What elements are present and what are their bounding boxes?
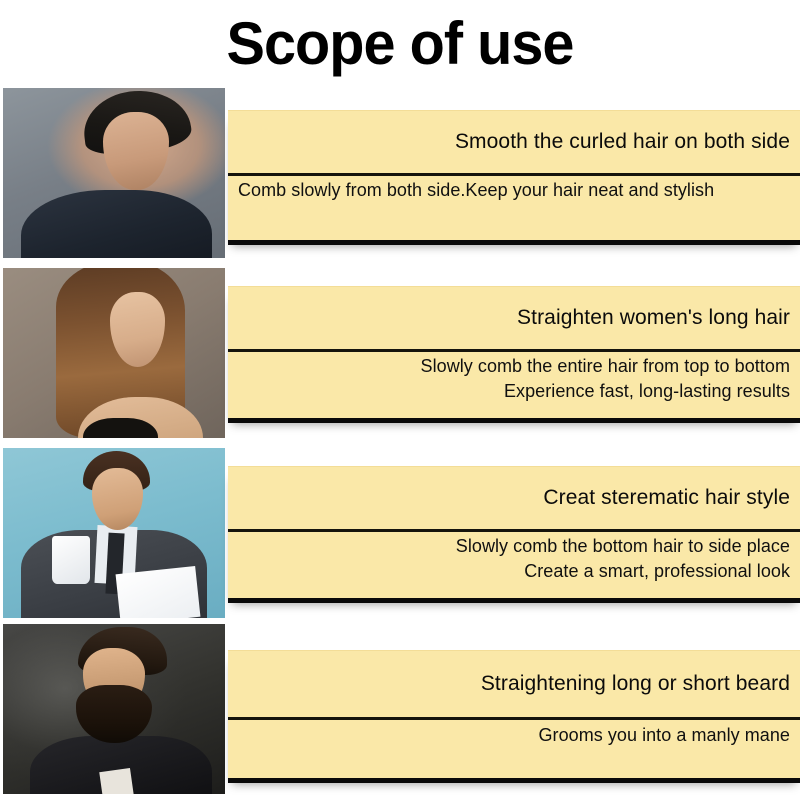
caption-body-line: Grooms you into a manly mane bbox=[228, 723, 790, 748]
caption-heading-2: Straighten women's long hair bbox=[228, 287, 790, 349]
scope-row-4: Straightening long or short beard Grooms… bbox=[0, 624, 800, 796]
scope-row-2: Straighten women's long hair Slowly comb… bbox=[0, 268, 800, 440]
caption-divider-4 bbox=[228, 717, 800, 720]
photo-businessman-mug bbox=[3, 448, 225, 618]
photo-man-wavy-hair bbox=[3, 88, 225, 258]
caption-body-1: Comb slowly from both side.Keep your hai… bbox=[228, 178, 790, 203]
caption-heading-3: Creat sterematic hair style bbox=[228, 467, 790, 529]
caption-body-line: Comb slowly from both side.Keep your hai… bbox=[238, 178, 790, 203]
photo-background bbox=[3, 88, 225, 258]
photo-bearded-man bbox=[3, 624, 225, 794]
caption-panel-1: Smooth the curled hair on both side Comb… bbox=[228, 110, 800, 240]
caption-divider-2 bbox=[228, 349, 800, 352]
caption-panel-2: Straighten women's long hair Slowly comb… bbox=[228, 286, 800, 418]
photo-face-shape bbox=[92, 468, 143, 529]
caption-heading-1: Smooth the curled hair on both side bbox=[228, 111, 790, 173]
photo-background bbox=[3, 448, 225, 618]
caption-body-line: Slowly comb the bottom hair to side plac… bbox=[228, 534, 790, 559]
caption-body-line: Experience fast, long-lasting results bbox=[228, 379, 790, 404]
photo-mug-shape bbox=[52, 536, 90, 584]
caption-divider-3 bbox=[228, 529, 800, 532]
photo-background bbox=[3, 624, 225, 794]
scope-row-1: Smooth the curled hair on both side Comb… bbox=[0, 88, 800, 260]
scope-row-3: Creat sterematic hair style Slowly comb … bbox=[0, 448, 800, 620]
caption-body-2: Slowly comb the entire hair from top to … bbox=[228, 354, 790, 404]
caption-panel-3: Creat sterematic hair style Slowly comb … bbox=[228, 466, 800, 598]
photo-background bbox=[3, 268, 225, 438]
photo-beard-shape bbox=[76, 685, 151, 743]
caption-panel-4: Straightening long or short beard Grooms… bbox=[228, 650, 800, 778]
photo-collar-shape bbox=[99, 768, 134, 794]
photo-face-shape bbox=[103, 112, 170, 190]
caption-body-4: Grooms you into a manly mane bbox=[228, 723, 790, 748]
photo-suit-shape bbox=[21, 190, 212, 258]
caption-divider-1 bbox=[228, 173, 800, 176]
photo-paper-shape bbox=[116, 566, 201, 618]
caption-heading-4: Straightening long or short beard bbox=[228, 651, 790, 717]
photo-woman-long-hair bbox=[3, 268, 225, 438]
caption-body-3: Slowly comb the bottom hair to side plac… bbox=[228, 534, 790, 584]
caption-body-line: Slowly comb the entire hair from top to … bbox=[228, 354, 790, 379]
page-title: Scope of use bbox=[16, 6, 784, 82]
caption-body-line: Create a smart, professional look bbox=[228, 559, 790, 584]
